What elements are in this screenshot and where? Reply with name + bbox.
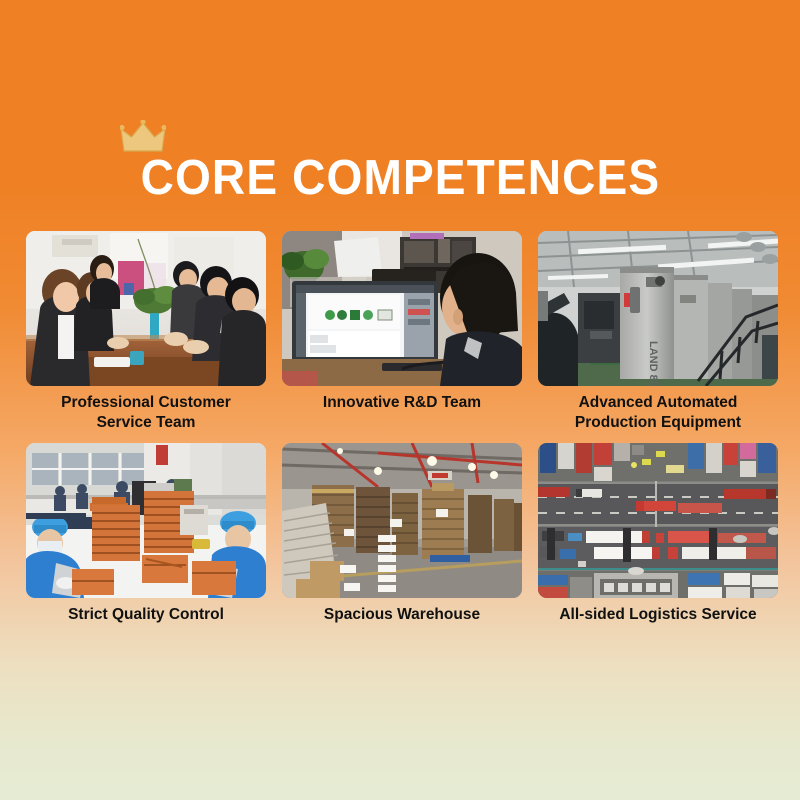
- quality-inspection-workers-photo: [26, 443, 266, 598]
- title-block: CORE COMPETENCES: [0, 150, 800, 206]
- designer-at-monitor-photo: [282, 231, 522, 386]
- printing-press-machinery-photo: LAND 800: [538, 231, 778, 386]
- thumbnail-office-meeting[interactable]: [26, 231, 266, 386]
- svg-text:LAND 800: LAND 800: [647, 341, 659, 386]
- card-caption: Spacious Warehouse: [282, 605, 522, 625]
- card-spacious-warehouse[interactable]: Spacious Warehouse: [282, 443, 522, 625]
- thumbnail-designer-monitor[interactable]: [282, 231, 522, 386]
- card-all-sided-logistics-service[interactable]: All-sided Logistics Service: [538, 443, 778, 625]
- card-caption: Professional Customer Service Team: [26, 393, 266, 433]
- title-inner: CORE COMPETENCES: [124, 150, 677, 206]
- card-caption: Strict Quality Control: [26, 605, 266, 625]
- warehouse-pallets-photo: [282, 443, 522, 598]
- thumbnail-quality-control[interactable]: [26, 443, 266, 598]
- card-caption: Innovative R&D Team: [282, 393, 522, 413]
- card-strict-quality-control[interactable]: Strict Quality Control: [26, 443, 266, 625]
- competence-grid: Professional Customer Service Team: [26, 231, 776, 625]
- card-caption: Advanced Automated Production Equipment: [538, 393, 778, 433]
- thumbnail-printing-press[interactable]: LAND 800: [538, 231, 778, 386]
- office-meeting-photo: [26, 231, 266, 386]
- page-title: CORE COMPETENCES: [140, 150, 660, 206]
- card-caption: All-sided Logistics Service: [538, 605, 778, 625]
- page-root: CORE COMPETENCES: [0, 0, 800, 800]
- card-advanced-automated-production-equipment[interactable]: LAND 800: [538, 231, 778, 433]
- aerial-container-yard-photo: [538, 443, 778, 598]
- thumbnail-logistics-aerial[interactable]: [538, 443, 778, 598]
- crown-icon: [120, 120, 166, 154]
- card-innovative-rd-team[interactable]: Innovative R&D Team: [282, 231, 522, 433]
- card-professional-customer-service-team[interactable]: Professional Customer Service Team: [26, 231, 266, 433]
- thumbnail-warehouse[interactable]: [282, 443, 522, 598]
